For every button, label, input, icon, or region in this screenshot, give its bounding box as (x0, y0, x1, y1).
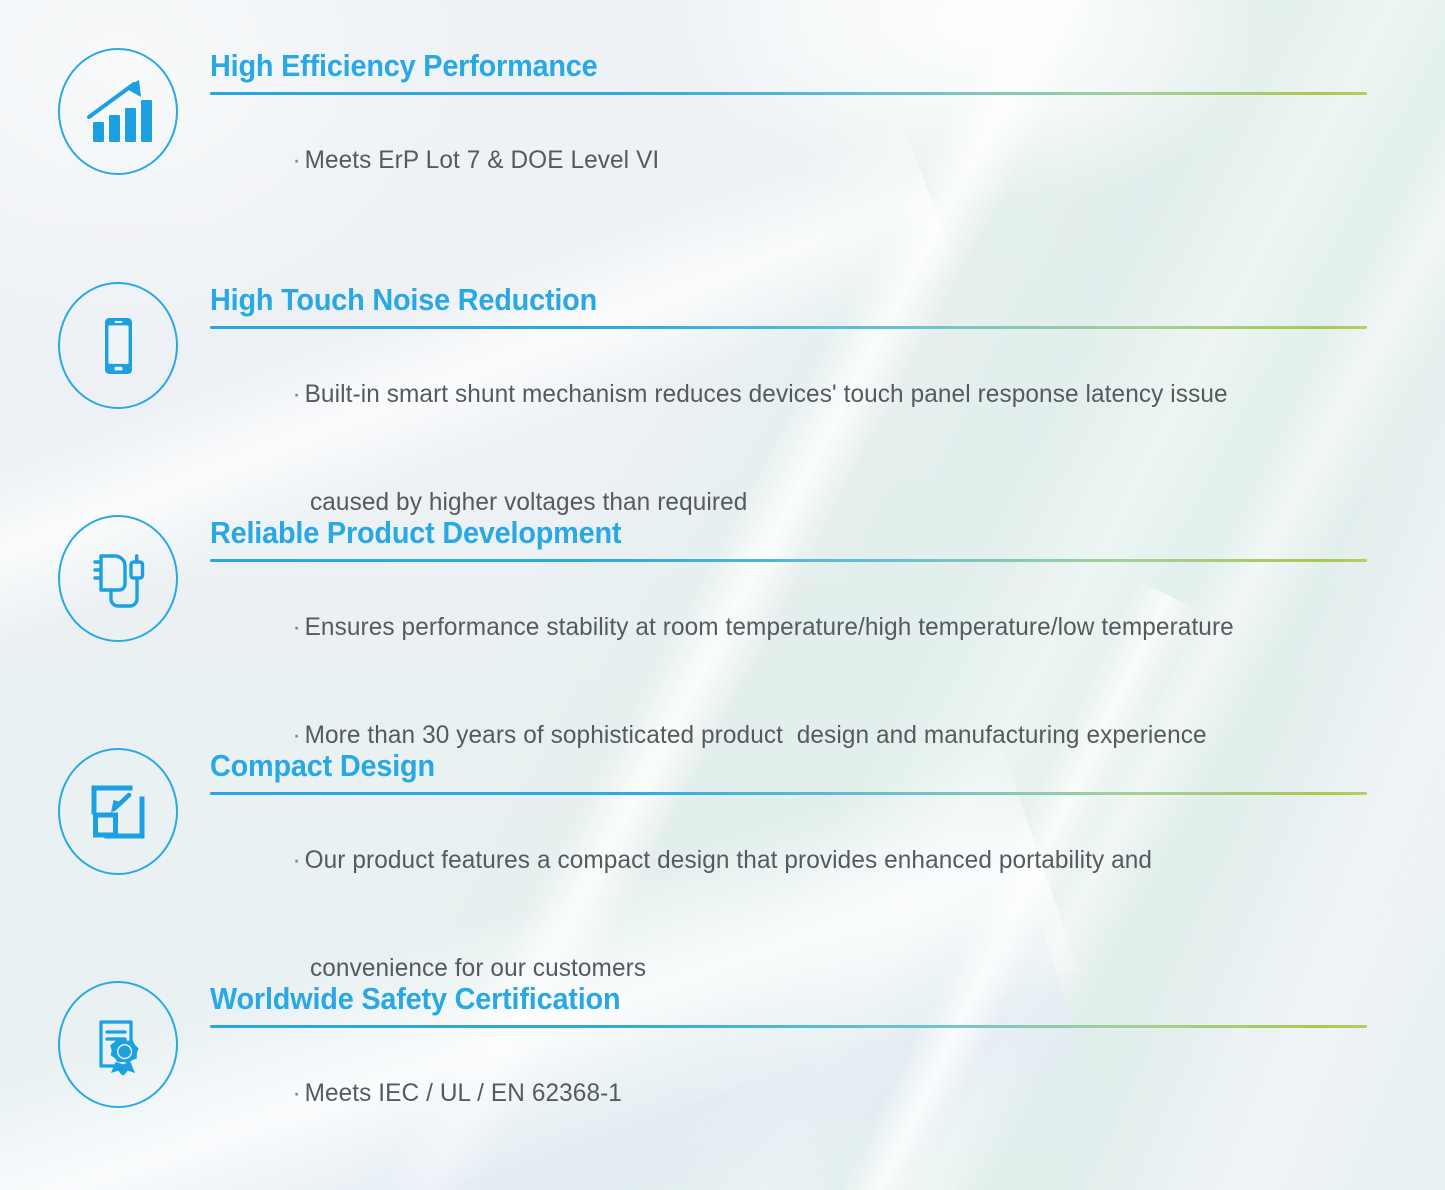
feature-divider (210, 559, 1367, 562)
feature-bullet-line: ·Ensures performance stability at room t… (210, 573, 1346, 681)
bar-chart-growth-icon (58, 48, 178, 175)
power-adapter-icon (58, 515, 178, 642)
bullet-text: More than 30 years of sophisticated prod… (305, 721, 1207, 749)
compact-resize-icon (58, 748, 178, 875)
feature-title: Reliable Product Development (210, 517, 1293, 550)
feature-icon-wrap (54, 515, 181, 642)
feature-bullet-line: ·Meets IEC / UL / EN 62368-1 (210, 1039, 1346, 1147)
feature-title: Worldwide Safety Certification (210, 983, 1293, 1016)
bullet-text: Ensures performance stability at room te… (305, 613, 1234, 641)
feature-divider (210, 92, 1367, 95)
feature-title: High Efficiency Performance (210, 50, 1293, 83)
feature-highlights-page: High Efficiency Performance ·Meets ErP L… (0, 0, 1445, 1190)
bullet-marker: · (292, 146, 300, 174)
feature-divider (210, 1025, 1367, 1028)
feature-icon-wrap (54, 48, 181, 175)
bullet-text: Meets ErP Lot 7 & DOE Level VI (305, 146, 660, 174)
feature-icon-wrap (54, 981, 181, 1108)
feature-bullet-line: ·Built-in smart shunt mechanism reduces … (210, 340, 1346, 448)
certificate-seal-icon (58, 981, 178, 1108)
bullet-marker: · (292, 846, 300, 874)
smartphone-icon (58, 282, 178, 409)
feature-title: Compact Design (210, 750, 1293, 783)
feature-divider (210, 326, 1367, 329)
feature-bullet-line: ·Our product features a compact design t… (210, 806, 1346, 914)
bullet-text: Our product features a compact design th… (305, 846, 1153, 874)
feature-icon-wrap (54, 748, 181, 875)
bullet-marker: · (292, 721, 300, 749)
feature-bullets: ·Meets ErP Lot 7 & DOE Level VI (210, 106, 1375, 214)
bullet-text: Built-in smart shunt mechanism reduces d… (305, 380, 1228, 408)
feature-body: Worldwide Safety Certification ·Meets IE… (210, 983, 1375, 1147)
feature-divider (210, 792, 1367, 795)
feature-title: High Touch Noise Reduction (210, 284, 1293, 317)
bullet-marker: · (292, 1079, 300, 1107)
bullet-marker: · (292, 613, 300, 641)
feature-bullets: ·Meets IEC / UL / EN 62368-1 (210, 1039, 1375, 1147)
bullet-text: Meets IEC / UL / EN 62368-1 (305, 1079, 622, 1107)
feature-body: High Efficiency Performance ·Meets ErP L… (210, 50, 1375, 214)
feature-icon-wrap (54, 282, 181, 409)
feature-bullet-line: ·Meets ErP Lot 7 & DOE Level VI (210, 106, 1346, 214)
bullet-marker: · (292, 380, 300, 408)
